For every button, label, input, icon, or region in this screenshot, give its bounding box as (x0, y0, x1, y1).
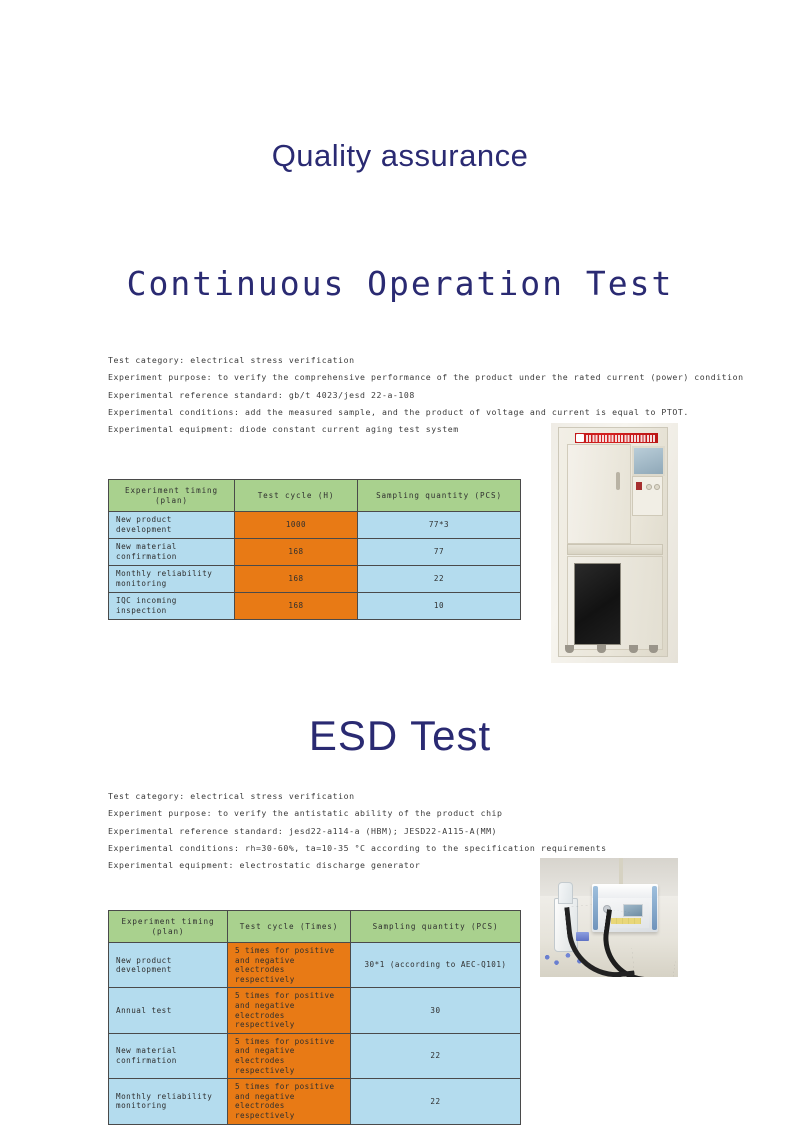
cell-cycle: 5 times for positive and negative electr… (228, 988, 351, 1033)
table-row: New product development 5 times for posi… (109, 943, 521, 988)
description-line: Experimental reference standard: jesd22-… (108, 823, 708, 840)
cell-cycle: 168 (235, 593, 358, 620)
cell-sampling: 10 (358, 593, 521, 620)
cell-sampling: 77 (358, 539, 521, 566)
column-header-sampling: Sampling quantity (PCS) (351, 911, 521, 943)
table-row: New material confirmation 168 77 (109, 539, 521, 566)
cell-timing: New product development (109, 943, 228, 988)
cell-cycle: 1000 (235, 512, 358, 539)
table-row: New material confirmation 5 times for po… (109, 1033, 521, 1078)
table-esd: Experiment timing (plan) Test cycle (Tim… (108, 910, 521, 1125)
cabinet-door (567, 444, 631, 544)
description-line: Experiment purpose: to verify the antist… (108, 805, 708, 822)
unit-top-surface (592, 884, 658, 898)
table-row: Annual test 5 times for positive and neg… (109, 988, 521, 1033)
emergency-button-icon (636, 482, 642, 490)
caster-icon (597, 645, 606, 653)
indicator-icon (654, 484, 660, 490)
cell-cycle: 5 times for positive and negative electr… (228, 943, 351, 988)
cell-cycle: 168 (235, 539, 358, 566)
column-header-sampling: Sampling quantity (PCS) (358, 480, 521, 512)
cell-sampling: 22 (351, 1033, 521, 1078)
cell-cycle: 5 times for positive and negative electr… (228, 1033, 351, 1078)
indicator-icon (646, 484, 652, 490)
column-header-timing: Experiment timing (plan) (109, 911, 228, 943)
glass-beaker-neck (558, 882, 573, 904)
photo-esd-generator (540, 858, 678, 977)
table-row: Monthly reliability monitoring 5 times f… (109, 1079, 521, 1124)
cell-sampling: 30*1 (according to AEC-Q101) (351, 943, 521, 988)
cell-cycle: 5 times for positive and negative electr… (228, 1079, 351, 1124)
caster-icon (565, 645, 574, 653)
cell-sampling: 22 (351, 1079, 521, 1124)
photo-aging-test-system (551, 423, 678, 663)
table-row: New product development 1000 77*3 (109, 512, 521, 539)
description-line: Test category: electrical stress verific… (108, 788, 708, 805)
section-title-esd: ESD Test (0, 712, 800, 760)
cell-timing: New material confirmation (109, 1033, 228, 1078)
cell-timing: IQC incoming inspection (109, 593, 235, 620)
control-screen (632, 446, 665, 476)
cell-cycle: 168 (235, 566, 358, 593)
cell-timing: Annual test (109, 988, 228, 1033)
table-header-row: Experiment timing (plan) Test cycle (Tim… (109, 911, 521, 943)
caster-icon (629, 645, 638, 653)
control-panel (632, 476, 663, 516)
cell-sampling: 30 (351, 988, 521, 1033)
cabinet-mid-bar (567, 544, 663, 555)
description-line: Test category: electrical stress verific… (108, 352, 708, 369)
caster-icon (649, 645, 658, 653)
dark-viewing-window (574, 563, 621, 645)
cell-sampling: 77*3 (358, 512, 521, 539)
cell-timing: Monthly reliability monitoring (109, 566, 235, 593)
column-header-timing: Experiment timing (plan) (109, 480, 235, 512)
cabinet-banner-icon (575, 433, 658, 443)
cell-timing: New material confirmation (109, 539, 235, 566)
description-line: Experimental conditions: add the measure… (108, 404, 708, 421)
section-title-continuous: Continuous Operation Test (0, 264, 800, 303)
cell-timing: Monthly reliability monitoring (109, 1079, 228, 1124)
description-line: Experiment purpose: to verify the compre… (108, 369, 708, 386)
cabinet-lower-body (567, 556, 663, 650)
cell-timing: New product development (109, 512, 235, 539)
table-continuous-operation: Experiment timing (plan) Test cycle (H) … (108, 479, 521, 620)
aging-cabinet (558, 427, 668, 657)
banner-text-icon (586, 435, 656, 442)
table-row: IQC incoming inspection 168 10 (109, 593, 521, 620)
description-line: Experimental reference standard: gb/t 40… (108, 387, 708, 404)
table-header-row: Experiment timing (plan) Test cycle (H) … (109, 480, 521, 512)
door-handle-icon (616, 472, 620, 490)
cell-sampling: 22 (358, 566, 521, 593)
column-header-cycle: Test cycle (H) (235, 480, 358, 512)
column-header-cycle: Test cycle (Times) (228, 911, 351, 943)
page-title: Quality assurance (0, 138, 800, 174)
table-row: Monthly reliability monitoring 168 22 (109, 566, 521, 593)
description-line: Experimental conditions: rh=30-60%, ta=1… (108, 840, 708, 857)
brand-logo-icon (576, 434, 584, 442)
